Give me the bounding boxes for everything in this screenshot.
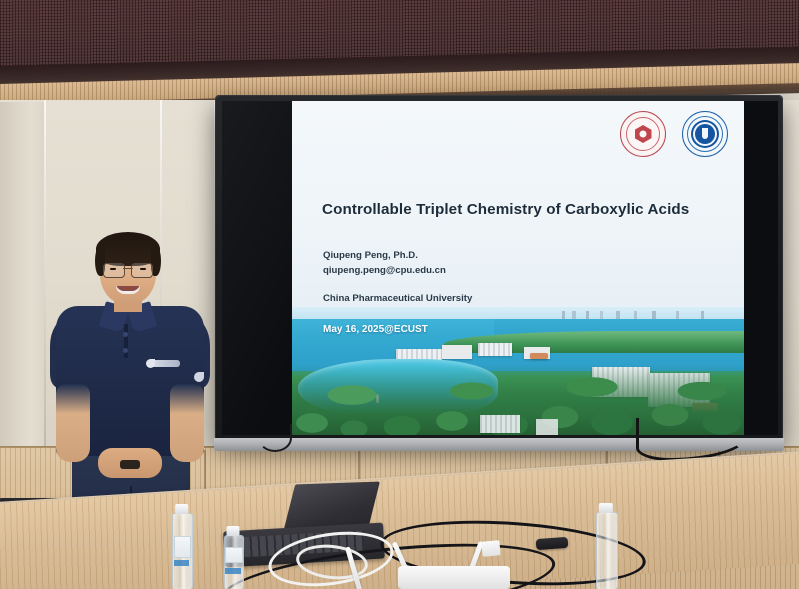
slide-logo-row xyxy=(620,111,728,157)
wireless-router[interactable] xyxy=(398,566,510,589)
presenter-eye-right xyxy=(140,268,146,270)
conference-room-scene: Controllable Triplet Chemistry of Carbox… xyxy=(0,0,799,589)
presenter-remote[interactable] xyxy=(536,537,569,550)
display-cable-left xyxy=(258,424,292,452)
slide-affiliation: China Pharmaceutical University xyxy=(323,293,643,304)
letterbox-right xyxy=(744,101,778,435)
shirt-button xyxy=(123,332,128,337)
bottle-label-band xyxy=(174,560,190,566)
letterbox-left xyxy=(222,101,292,435)
presenter-arm-left xyxy=(56,384,90,462)
glasses-lens-right xyxy=(131,263,153,278)
white-cable-clip[interactable] xyxy=(481,540,500,557)
water-bottle-tall[interactable] xyxy=(172,513,191,589)
bottle-cap xyxy=(175,504,189,514)
china-pharmaceutical-university-logo xyxy=(620,111,666,157)
slide-title: Controllable Triplet Chemistry of Carbox… xyxy=(322,201,722,218)
ecust-logo xyxy=(682,111,728,157)
sleeve-brand-logo-icon xyxy=(194,372,204,382)
bottle-body xyxy=(596,512,618,589)
shirt-brand-logo-icon xyxy=(150,360,180,367)
bottle-cap xyxy=(599,503,613,513)
glasses-lens-left xyxy=(103,263,125,278)
photo-roof xyxy=(530,353,548,359)
shirt-button xyxy=(123,348,128,353)
water-bottle-short[interactable] xyxy=(224,535,242,589)
display-screen[interactable]: Controllable Triplet Chemistry of Carbox… xyxy=(222,101,778,435)
water-bottle-right[interactable] xyxy=(596,512,616,589)
presenter-eye-left xyxy=(110,268,116,270)
photo-building xyxy=(536,419,558,435)
presenter-email: qiupeng.peng@cpu.edu.cn xyxy=(323,264,643,279)
bottle-label xyxy=(174,536,192,558)
photo-building xyxy=(442,345,472,359)
bottle-label-band xyxy=(225,568,240,574)
slide-presenter-block: Qiupeng Peng, Ph.D. qiupeng.peng@cpu.edu… xyxy=(323,249,643,279)
photo-building xyxy=(480,415,520,433)
photo-building xyxy=(478,343,512,356)
slide-date-venue: May 16, 2025@ECUST xyxy=(323,324,643,335)
handheld-remote xyxy=(120,460,140,469)
bottle-label xyxy=(225,547,242,563)
presentation-slide: Controllable Triplet Chemistry of Carbox… xyxy=(292,101,744,435)
presenter-name: Qiupeng Peng, Ph.D. xyxy=(323,249,643,264)
ecust-emblem-icon xyxy=(695,124,715,144)
bottle-cap xyxy=(227,526,240,536)
presenter-arm-right xyxy=(170,384,204,462)
cpu-emblem-icon xyxy=(635,125,652,143)
